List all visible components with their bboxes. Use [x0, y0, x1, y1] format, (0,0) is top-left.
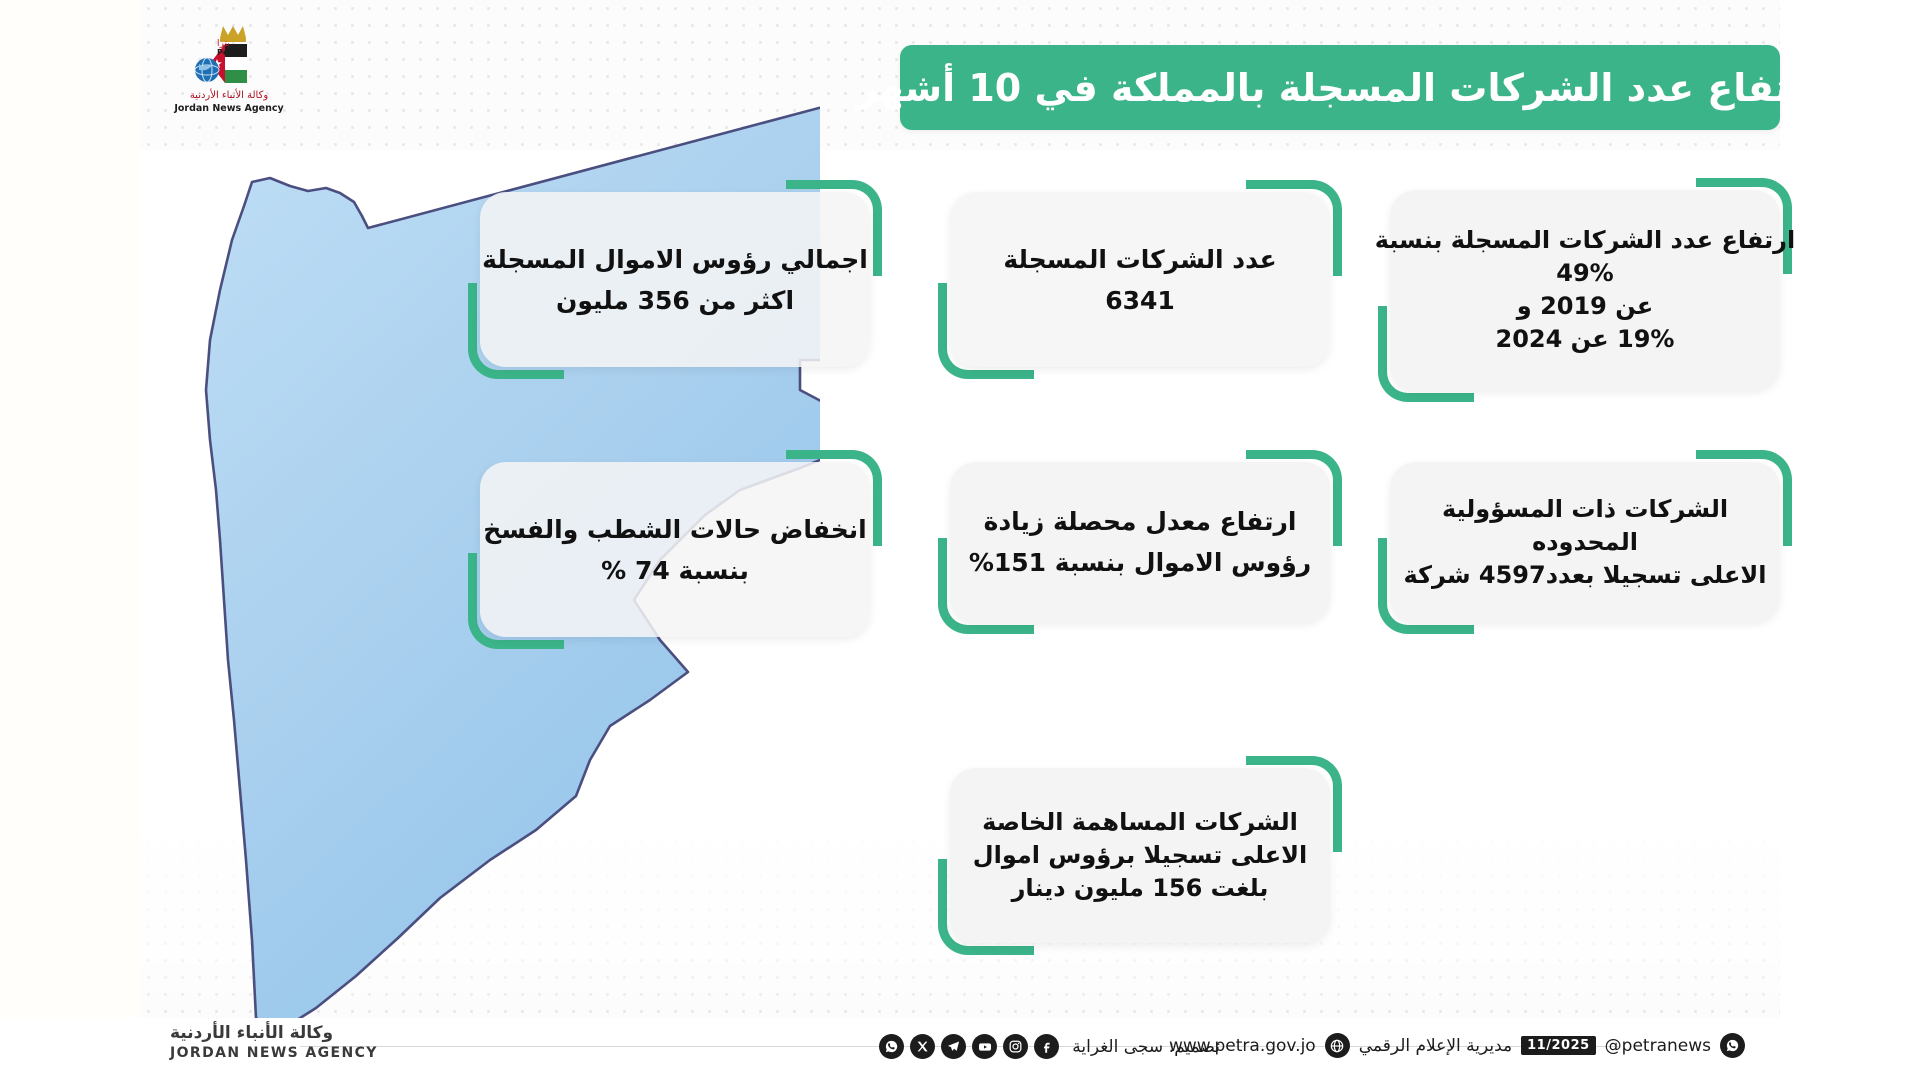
card-line: عدد الشركات المسجلة	[1003, 239, 1276, 280]
logo-agency-ar: وكالة الأنباء الأردنية	[190, 88, 269, 101]
card-line: الاعلى تسجيلا بعدد4597 شركة	[1404, 559, 1767, 592]
globe-icon	[195, 58, 219, 82]
department-label: مديرية الإعلام الرقمي	[1359, 1036, 1512, 1056]
page-title: ارتفاع عدد الشركات المسجلة بالمملكة في 1…	[856, 66, 1824, 110]
card-private-shareholding-companies: الشركات المساهمة الخاصة الاعلى تسجيلا بر…	[950, 768, 1330, 943]
card-line: 49%	[1556, 257, 1613, 290]
card-body: الشركات المساهمة الخاصة الاعلى تسجيلا بر…	[950, 768, 1330, 943]
youtube-icon[interactable]	[972, 1034, 997, 1059]
card-line: 6341	[1105, 280, 1175, 321]
footer-contact-info: @petranews 11/2025 مديرية الإعلام الرقمي…	[1169, 1033, 1745, 1058]
telegram-icon[interactable]	[941, 1034, 966, 1059]
card-line: انخفاض حالات الشطب والفسخ	[483, 509, 866, 550]
card-registered-companies-count: عدد الشركات المسجلة 6341	[950, 192, 1330, 367]
card-body: الشركات ذات المسؤولية المحدوده الاعلى تس…	[1390, 462, 1780, 622]
whatsapp-icon[interactable]	[1720, 1033, 1745, 1058]
card-line: 19% عن 2024	[1496, 323, 1675, 356]
card-total-registered-capital: اجمالي رؤوس الاموال المسجلة اكثر من 356 …	[480, 192, 870, 367]
card-body: ارتفاع معدل محصلة زيادة رؤوس الاموال بنس…	[950, 462, 1330, 622]
card-line: اجمالي رؤوس الاموال المسجلة	[482, 239, 868, 280]
card-line: ارتفاع معدل محصلة زيادة	[984, 501, 1297, 542]
card-body: اجمالي رؤوس الاموال المسجلة اكثر من 356 …	[480, 192, 870, 367]
card-line: اكثر من 356 مليون	[556, 280, 794, 321]
logo-agency-en: Jordan News Agency	[173, 103, 284, 114]
globe-website-icon	[1325, 1033, 1350, 1058]
facebook-icon[interactable]	[1034, 1034, 1059, 1059]
card-line: بلغت 156 مليون دينار	[1012, 872, 1269, 905]
card-line: ارتفاع عدد الشركات المسجلة بنسبة	[1375, 224, 1795, 257]
logo-petra-en: Petra	[217, 48, 241, 57]
card-cancellation-decline: انخفاض حالات الشطب والفسخ بنسبة 74 %	[480, 462, 870, 637]
card-line: المحدوده	[1532, 526, 1638, 559]
footer-brand: وكالة الأنباء الأردنية JORDAN NEWS AGENC…	[170, 1022, 378, 1062]
card-line: عن 2019 و	[1517, 290, 1653, 323]
card-registration-growth-rate: ارتفاع عدد الشركات المسجلة بنسبة 49% عن …	[1390, 190, 1780, 390]
card-line: الشركات المساهمة الخاصة	[982, 806, 1298, 839]
date-badge: 11/2025	[1521, 1036, 1596, 1055]
card-line: بنسبة 74 %	[601, 550, 749, 591]
card-line: الاعلى تسجيلا برؤوس اموال	[973, 839, 1307, 872]
footer-bar: وكالة الأنباء الأردنية JORDAN NEWS AGENC…	[0, 1018, 1920, 1080]
social-handle[interactable]: @petranews	[1605, 1036, 1711, 1056]
left-edge-strip	[0, 0, 140, 1080]
card-limited-liability-companies: الشركات ذات المسؤولية المحدوده الاعلى تس…	[1390, 462, 1780, 622]
footer-brand-ar: وكالة الأنباء الأردنية	[170, 1022, 378, 1044]
card-body: ارتفاع عدد الشركات المسجلة بنسبة 49% عن …	[1390, 190, 1780, 390]
whatsapp-icon[interactable]	[879, 1034, 904, 1059]
petra-logo: بترا Petra وكالة الأنباء الأردنية Jordan…	[165, 18, 295, 123]
card-capital-increase-rate: ارتفاع معدل محصلة زيادة رؤوس الاموال بنس…	[950, 462, 1330, 622]
instagram-icon[interactable]	[1003, 1034, 1028, 1059]
infographic-poster: بترا Petra وكالة الأنباء الأردنية Jordan…	[0, 0, 1920, 1080]
card-line: رؤوس الاموال بنسبة 151%	[969, 542, 1311, 583]
website-url[interactable]: www.petra.gov.jo	[1169, 1036, 1316, 1056]
social-links	[879, 1034, 1059, 1059]
footer-brand-en: JORDAN NEWS AGENCY	[170, 1044, 378, 1062]
card-line: الشركات ذات المسؤولية	[1442, 493, 1728, 526]
card-body: عدد الشركات المسجلة 6341	[950, 192, 1330, 367]
x-twitter-icon[interactable]	[910, 1034, 935, 1059]
title-banner: ارتفاع عدد الشركات المسجلة بالمملكة في 1…	[900, 45, 1780, 130]
card-body: انخفاض حالات الشطب والفسخ بنسبة 74 %	[480, 462, 870, 637]
